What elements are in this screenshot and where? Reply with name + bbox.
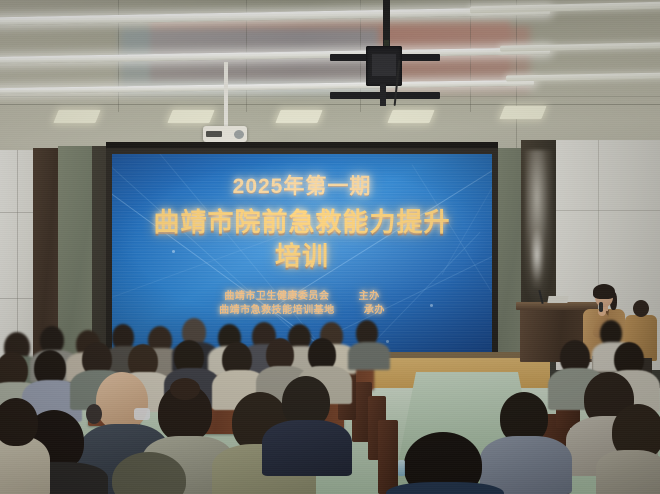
conference-hall-screenshot: 2025年第一期 曲靖市院前急救能力提升 培训 曲靖市卫生健康委员会 主办 曲靖… [0, 0, 660, 494]
screen-title-line2: 曲靖市院前急救能力提升 [112, 202, 492, 239]
screen-title-line1: 2025年第一期 [112, 170, 492, 200]
handheld-microphone [599, 302, 603, 312]
water-bottle [398, 460, 405, 476]
ceiling-panel-light [387, 110, 434, 123]
ceiling-panel-light [499, 106, 546, 119]
podium-papers [547, 296, 568, 303]
ceiling-panel-light [275, 110, 322, 123]
organizer-name: 曲靖市急救技能培训基地 [219, 301, 335, 316]
wall-light-reflection [529, 222, 545, 288]
organizer-role: 主办 [359, 287, 380, 302]
auditorium-chair-side [378, 420, 398, 494]
projector-drop-pole [224, 62, 228, 128]
ceiling-seam [470, 0, 471, 112]
ceiling-panel-light [167, 110, 214, 123]
projector-vent [206, 131, 222, 137]
screen-subtitle-row: 曲靖市卫生健康委员会 主办 [112, 287, 492, 302]
ceiling-seam [0, 104, 660, 105]
organizer-name: 曲靖市卫生健康委员会 [224, 287, 329, 302]
projector-lens [234, 130, 244, 139]
screen-subtitle-row: 曲靖市急救技能培训基地 承办 [112, 301, 492, 316]
projector-mount-tail [380, 84, 386, 106]
ceiling-panel-light [53, 110, 100, 123]
organizer-role: 承办 [364, 301, 385, 316]
screen-title-line3: 培训 [112, 236, 492, 273]
